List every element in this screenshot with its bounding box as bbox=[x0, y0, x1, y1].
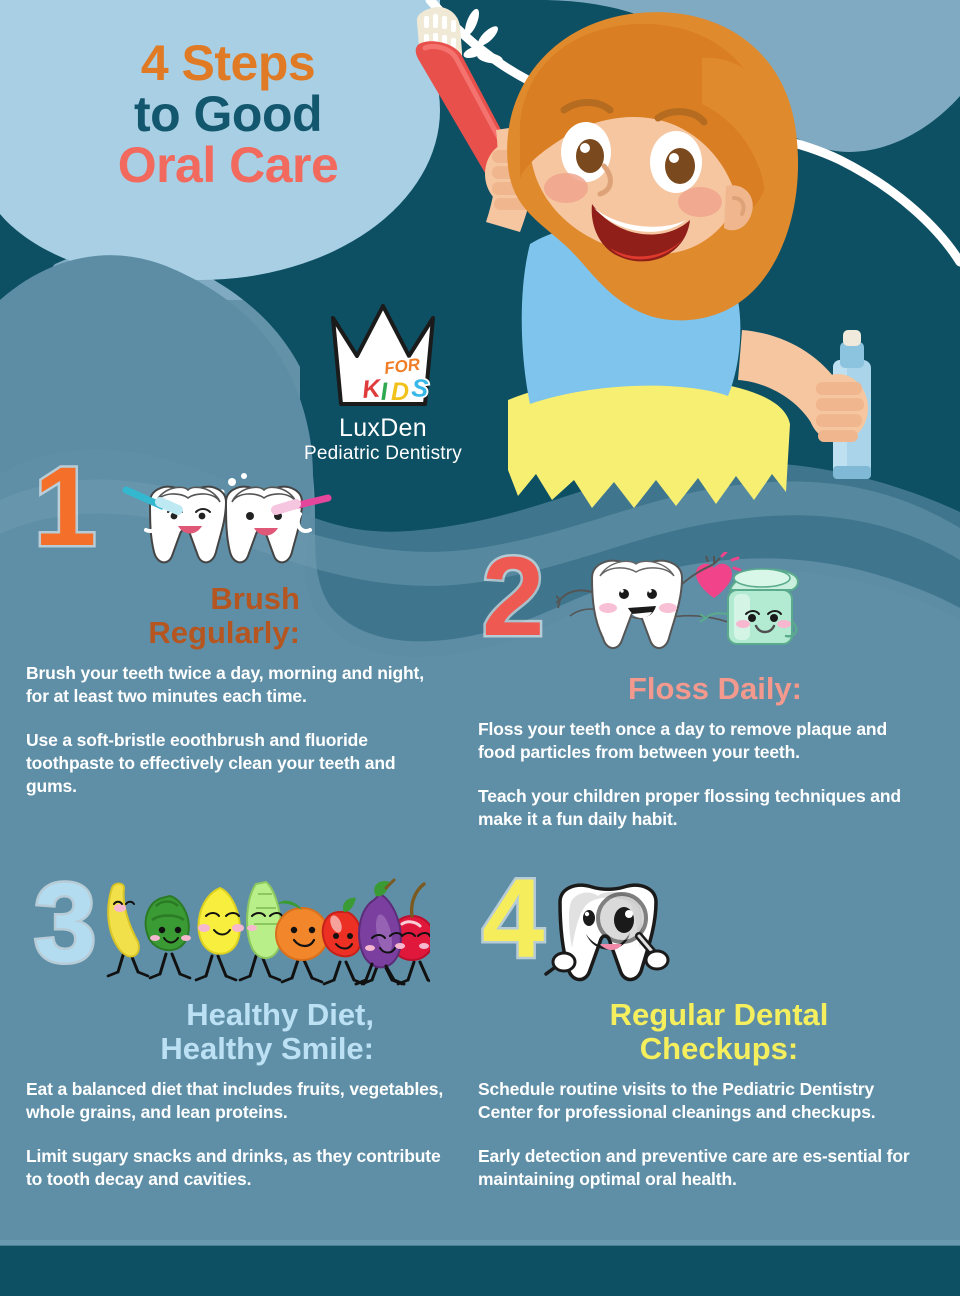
step-4-art: 4 bbox=[478, 878, 924, 996]
logo-name: LuxDen bbox=[283, 414, 483, 443]
step-2-art: 2 bbox=[478, 552, 924, 670]
step-4-heading: Regular Dental Checkups: bbox=[478, 998, 924, 1066]
infographic-page: 4 Steps to Good Oral Care FOR K I D S Lu… bbox=[0, 0, 960, 1296]
step-4-paragraph-1: Schedule routine visits to the Pediatric… bbox=[478, 1078, 924, 1125]
step-4-body: Schedule routine visits to the Pediatric… bbox=[478, 1078, 924, 1191]
step-1-paragraph-2: Use a soft-bristle eoothbrush and fluori… bbox=[26, 729, 446, 799]
step-3-number: 3 bbox=[34, 874, 96, 973]
crown-icon: FOR K I D S bbox=[323, 300, 443, 410]
step-3-paragraph-2: Limit sugary snacks and drinks, as they … bbox=[26, 1145, 446, 1192]
step-4-paragraph-2: Early detection and preventive care are … bbox=[478, 1145, 924, 1192]
step-1-art: 1 bbox=[26, 462, 446, 580]
tooth-with-magnifier-icon bbox=[544, 878, 684, 990]
step-4-number: 4 bbox=[482, 870, 544, 969]
step-3-art: 3 bbox=[26, 878, 446, 996]
brand-logo: FOR K I D S LuxDen Pediatric Dentistry bbox=[283, 300, 483, 466]
sparkle-icon bbox=[462, 7, 504, 65]
step-2-body: Floss your teeth once a day to remove pl… bbox=[478, 718, 924, 831]
title-line-3: Oral Care bbox=[58, 140, 398, 191]
step-1-heading-line-1: Brush bbox=[26, 582, 300, 616]
step-2-paragraph-2: Teach your children proper flossing tech… bbox=[478, 785, 924, 832]
eggplant-icon bbox=[350, 878, 410, 988]
logo-subtitle: Pediatric Dentistry bbox=[283, 443, 483, 466]
step-2-heading: Floss Daily: bbox=[478, 672, 924, 706]
step-1-paragraph-1: Brush your teeth twice a day, morning an… bbox=[26, 662, 446, 709]
svg-text:D: D bbox=[391, 378, 409, 406]
step-3: 3 bbox=[26, 878, 446, 1191]
two-brushing-teeth-icon bbox=[122, 472, 332, 584]
step-1-heading: Brush Regularly: bbox=[26, 582, 446, 650]
title-line-2: to Good bbox=[58, 89, 398, 140]
step-4-heading-line-1: Regular Dental bbox=[514, 998, 924, 1032]
svg-text:S: S bbox=[411, 374, 430, 403]
step-1-number: 1 bbox=[34, 458, 96, 557]
step-1-heading-line-2: Regularly: bbox=[26, 616, 300, 650]
step-2: 2 bbox=[478, 552, 924, 831]
step-1-body: Brush your teeth twice a day, morning an… bbox=[26, 662, 446, 798]
tooth-and-floss-box-icon bbox=[556, 552, 806, 664]
step-2-heading-line-1: Floss Daily: bbox=[506, 672, 924, 706]
hand-left bbox=[808, 374, 868, 442]
page-title: 4 Steps to Good Oral Care bbox=[58, 38, 398, 191]
step-3-heading-line-1: Healthy Diet, bbox=[26, 998, 374, 1032]
step-4-heading-line-2: Checkups: bbox=[514, 1032, 924, 1066]
step-2-number: 2 bbox=[482, 548, 544, 647]
step-4: 4 bbox=[478, 878, 924, 1191]
title-line-1: 4 Steps bbox=[58, 38, 398, 89]
step-3-heading: Healthy Diet, Healthy Smile: bbox=[26, 998, 446, 1066]
step-2-paragraph-1: Floss your teeth once a day to remove pl… bbox=[478, 718, 924, 765]
step-3-paragraph-1: Eat a balanced diet that includes fruits… bbox=[26, 1078, 446, 1125]
step-3-body: Eat a balanced diet that includes fruits… bbox=[26, 1078, 446, 1191]
step-3-heading-line-2: Healthy Smile: bbox=[26, 1032, 374, 1066]
step-1: 1 bbox=[26, 462, 446, 799]
